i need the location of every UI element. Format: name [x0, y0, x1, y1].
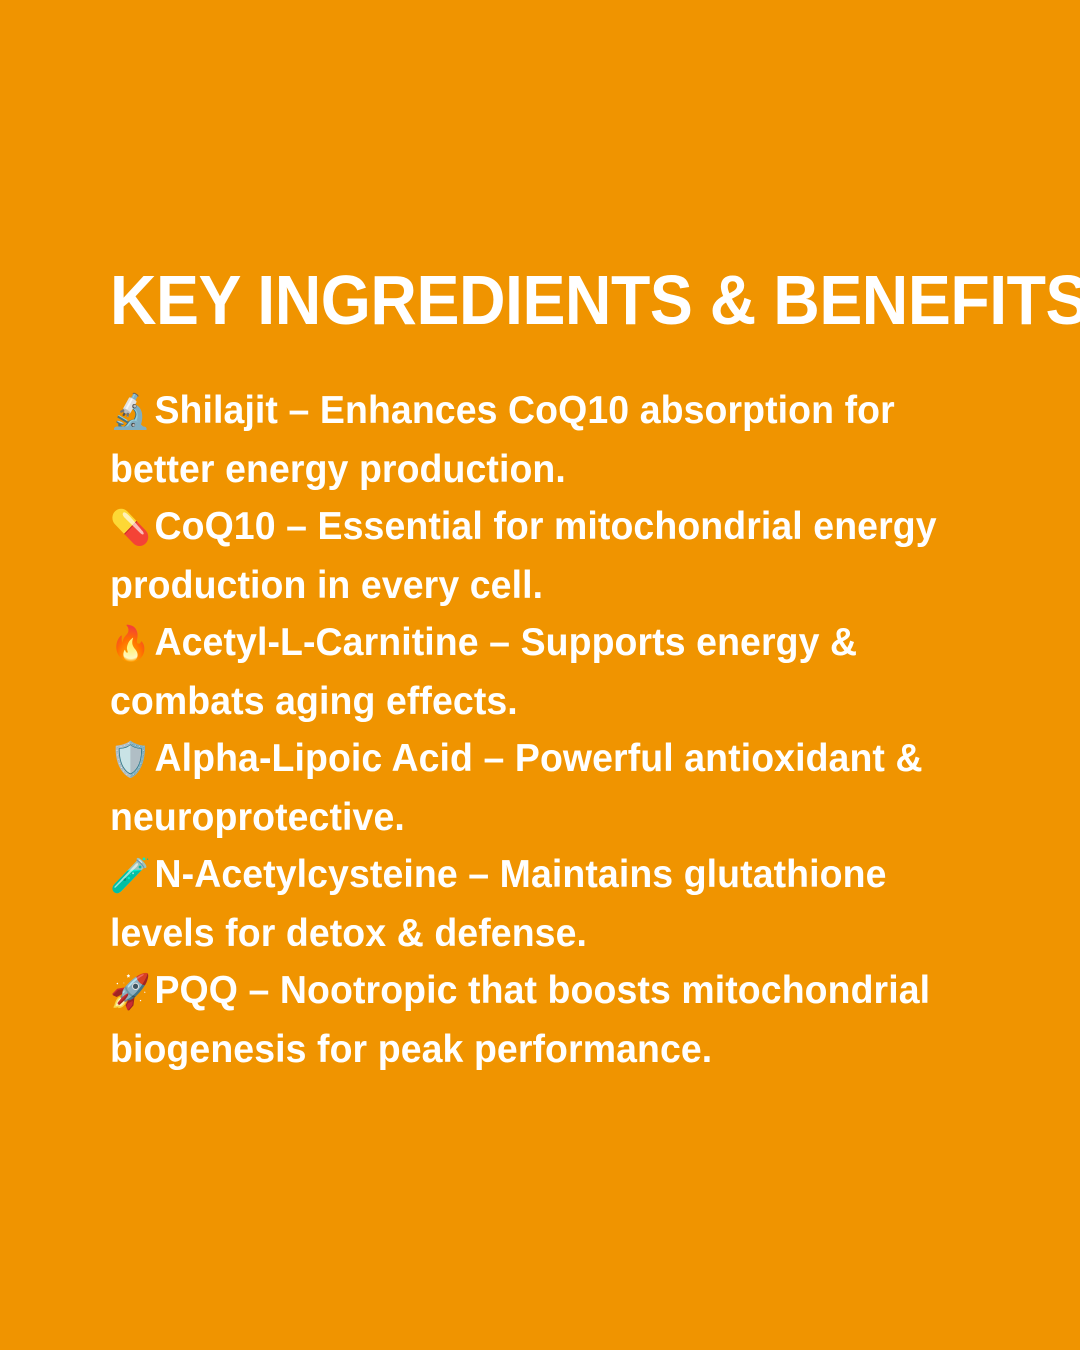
test-tube-icon: 🧪: [110, 856, 154, 896]
content-block: KEY INGREDIENTS & BENEFITS 🔬Shilajit – E…: [110, 262, 990, 1078]
shield-icon: 🛡️: [110, 740, 154, 780]
list-item-text: Alpha-Lipoic Acid – Powerful antioxidant…: [110, 737, 923, 839]
list-item: 🛡️Alpha-Lipoic Acid – Powerful antioxida…: [110, 737, 923, 839]
microscope-icon: 🔬: [110, 392, 154, 432]
benefits-list: 🔬Shilajit – Enhances CoQ10 absorption fo…: [110, 382, 943, 1078]
list-item: 🚀PQQ – Nootropic that boosts mitochondri…: [110, 969, 930, 1071]
list-item-text: PQQ – Nootropic that boosts mitochondria…: [110, 969, 930, 1071]
list-item: 💊CoQ10 – Essential for mitochondrial ene…: [110, 505, 937, 607]
rocket-icon: 🚀: [110, 972, 154, 1012]
list-item: 🧪N-Acetylcysteine – Maintains glutathion…: [110, 853, 887, 955]
list-item: 🔥Acetyl-L-Carnitine – Supports energy & …: [110, 621, 857, 723]
list-item-text: CoQ10 – Essential for mitochondrial ener…: [110, 505, 937, 607]
fire-icon: 🔥: [110, 624, 154, 664]
promo-slide: KEY INGREDIENTS & BENEFITS 🔬Shilajit – E…: [0, 0, 1080, 1350]
list-item-text: Acetyl-L-Carnitine – Supports energy & c…: [110, 621, 857, 723]
page-title: KEY INGREDIENTS & BENEFITS: [110, 262, 920, 338]
list-item: 🔬Shilajit – Enhances CoQ10 absorption fo…: [110, 389, 895, 491]
list-item-text: N-Acetylcysteine – Maintains glutathione…: [110, 853, 887, 955]
pill-icon: 💊: [110, 508, 154, 548]
list-item-text: Shilajit – Enhances CoQ10 absorption for…: [110, 389, 895, 491]
